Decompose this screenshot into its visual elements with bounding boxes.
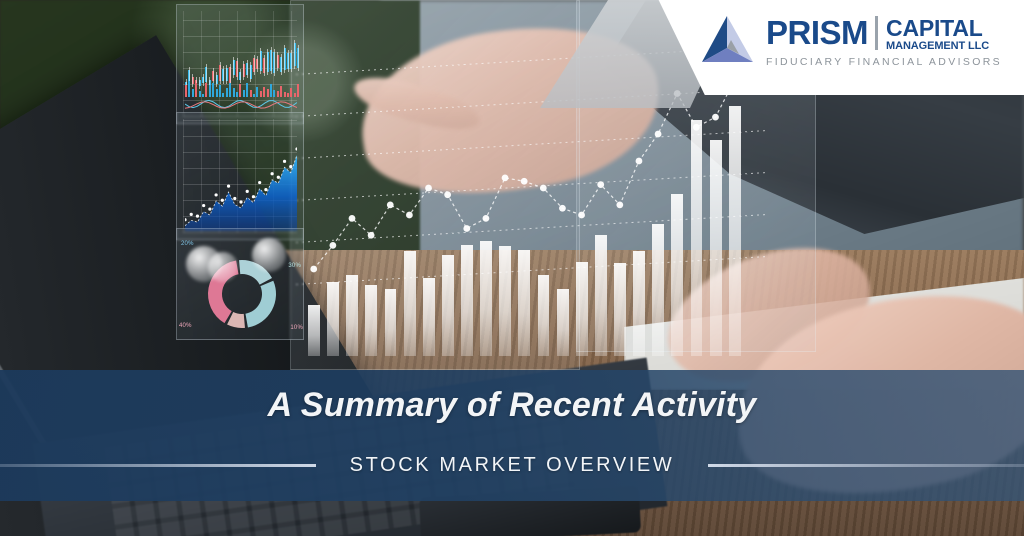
candlestick-wick bbox=[237, 58, 238, 79]
candlestick-wick bbox=[274, 49, 275, 76]
volume-bar bbox=[188, 81, 190, 97]
area-chart-marker bbox=[289, 165, 292, 168]
brand-wordmark: PRISM CAPITAL MANAGEMENT LLC FIDUCIARY F… bbox=[766, 16, 1002, 69]
volume-bar bbox=[297, 84, 299, 97]
volume-bar bbox=[267, 89, 269, 97]
donut-label-30: 30% bbox=[288, 263, 301, 269]
chart-trend-marker bbox=[693, 124, 700, 131]
volume-bar bbox=[192, 89, 194, 97]
volume-bar bbox=[205, 83, 207, 97]
candlestick-wick bbox=[294, 40, 295, 69]
volume-bar bbox=[270, 84, 272, 97]
chart-trend-marker bbox=[463, 225, 470, 232]
hologram-panel-donut-chart: 20% 30% 10% 40% bbox=[176, 228, 304, 340]
chart-trend-line bbox=[296, 56, 766, 356]
area-chart-marker bbox=[283, 160, 286, 163]
volume-bar bbox=[209, 85, 211, 97]
candlestick-wick bbox=[220, 62, 221, 85]
volume-bar bbox=[256, 87, 258, 97]
stock-market-overview-banner: 20% 30% 10% 40% PRISM CAPITAL MANAGEMENT… bbox=[0, 0, 1024, 536]
area-chart-marker bbox=[277, 176, 280, 179]
candlestick-wick bbox=[226, 65, 227, 84]
rule-left bbox=[0, 464, 316, 467]
candlestick-wick bbox=[216, 72, 217, 87]
area-chart-marker bbox=[258, 181, 261, 184]
area-chart-series bbox=[185, 147, 297, 231]
area-chart-marker bbox=[264, 188, 267, 191]
area-chart-marker bbox=[227, 184, 230, 187]
chart-trend-marker bbox=[502, 174, 509, 181]
chart-trend-marker bbox=[387, 201, 394, 208]
hologram-bar-chart bbox=[296, 56, 766, 356]
volume-bar bbox=[246, 83, 248, 97]
candlestick-wick bbox=[250, 62, 251, 82]
chart-trend-marker bbox=[444, 191, 451, 198]
area-chart-marker bbox=[252, 195, 255, 198]
volume-bar bbox=[185, 85, 187, 97]
chart-trend-marker bbox=[540, 185, 547, 192]
volume-bar bbox=[280, 86, 282, 97]
volume-bar bbox=[233, 88, 235, 97]
area-chart-marker bbox=[233, 197, 236, 200]
donut-label-40: 40% bbox=[179, 323, 192, 329]
candlestick-wick bbox=[223, 66, 224, 84]
area-chart-marker bbox=[196, 215, 199, 218]
area-chart-marker bbox=[202, 204, 205, 207]
area-chart-marker bbox=[239, 200, 242, 203]
volume-bar bbox=[290, 88, 292, 97]
candlestick-wick bbox=[271, 47, 272, 74]
volume-bar bbox=[216, 89, 218, 97]
area-chart-marker bbox=[295, 147, 297, 150]
brand-logo[interactable]: PRISM CAPITAL MANAGEMENT LLC FIDUCIARY F… bbox=[698, 14, 1002, 70]
chart-trend-marker bbox=[712, 114, 719, 121]
page-subtitle: STOCK MARKET OVERVIEW bbox=[316, 454, 709, 477]
candlestick-wick bbox=[192, 74, 193, 87]
candlestick-wick bbox=[284, 45, 285, 73]
candlestick-wick bbox=[240, 69, 241, 83]
area-chart-marker bbox=[246, 190, 249, 193]
candlestick-wick bbox=[291, 50, 292, 72]
bokeh-orb bbox=[252, 238, 286, 272]
chart-trend-marker bbox=[425, 185, 432, 192]
volume-bar bbox=[243, 90, 245, 97]
candlestick-wick bbox=[264, 55, 265, 77]
bokeh-orb bbox=[208, 252, 238, 282]
candlestick-wick bbox=[233, 57, 234, 78]
chart-trend-marker bbox=[368, 232, 375, 239]
candlestick-wick bbox=[281, 54, 282, 74]
area-chart-marker bbox=[221, 199, 224, 202]
candlestick-wick bbox=[298, 45, 299, 71]
area-chart-marker bbox=[271, 172, 274, 175]
volume-bar bbox=[226, 88, 228, 97]
rule-right bbox=[708, 464, 1024, 467]
oscillator-sparkline bbox=[185, 97, 297, 111]
candlestick-wick bbox=[206, 64, 207, 84]
chart-trend-marker bbox=[329, 242, 336, 249]
candlestick-wick bbox=[257, 56, 258, 73]
brand-tagline: FIDUCIARY FINANCIAL ADVISORS bbox=[766, 56, 1002, 68]
candlestick-wick bbox=[260, 48, 261, 74]
hologram-panel-area-chart bbox=[176, 112, 304, 240]
volume-bar bbox=[250, 90, 252, 97]
candlestick-wick bbox=[213, 68, 214, 84]
donut-segment bbox=[227, 312, 245, 328]
candlestick-wick bbox=[203, 74, 204, 86]
chart-trend-marker bbox=[636, 158, 643, 165]
area-chart-marker bbox=[190, 213, 193, 216]
chart-trend-marker bbox=[578, 212, 585, 219]
chart-trend-marker bbox=[559, 205, 566, 212]
candlestick-wick bbox=[277, 52, 278, 70]
candlestick-wick bbox=[267, 49, 268, 74]
area-chart-marker bbox=[185, 218, 187, 221]
chart-trend-marker bbox=[310, 266, 317, 273]
brand-name-secondary-sub: MANAGEMENT LLC bbox=[886, 40, 989, 53]
volume-bar bbox=[219, 85, 221, 97]
volume-bar bbox=[239, 84, 241, 97]
hologram-panel-candlestick bbox=[176, 4, 304, 124]
candlestick-wick bbox=[247, 60, 248, 78]
volume-bar bbox=[195, 83, 197, 97]
prism-triangle-icon bbox=[698, 14, 756, 70]
subtitle-row: STOCK MARKET OVERVIEW bbox=[0, 454, 1024, 477]
candlestick-wick bbox=[243, 61, 244, 80]
volume-bar bbox=[273, 90, 275, 97]
candlestick-wick bbox=[254, 55, 255, 75]
donut-segment bbox=[245, 281, 276, 328]
chart-trend-marker bbox=[406, 212, 413, 219]
brand-name-secondary: CAPITAL bbox=[886, 17, 989, 40]
volume-bar bbox=[263, 87, 265, 97]
donut-label-20: 20% bbox=[181, 241, 194, 247]
area-chart-marker bbox=[208, 207, 211, 210]
brand-divider bbox=[875, 16, 878, 50]
chart-trend-marker bbox=[521, 178, 528, 185]
volume-bar bbox=[229, 83, 231, 97]
volume-bar bbox=[212, 83, 214, 97]
chart-trend-marker bbox=[483, 215, 490, 222]
chart-trend-marker bbox=[616, 201, 623, 208]
title-banner: A Summary of Recent Activity STOCK MARKE… bbox=[0, 370, 1024, 501]
candlestick-wick bbox=[288, 50, 289, 72]
chart-trend-marker bbox=[597, 181, 604, 188]
page-title: A Summary of Recent Activity bbox=[268, 386, 757, 425]
donut-label-10: 10% bbox=[290, 325, 303, 331]
area-chart-marker bbox=[215, 193, 218, 196]
chart-trend-marker bbox=[655, 131, 662, 138]
chart-trend-marker bbox=[349, 215, 356, 222]
candlestick-wick bbox=[199, 77, 200, 89]
brand-name-primary: PRISM bbox=[766, 16, 868, 49]
